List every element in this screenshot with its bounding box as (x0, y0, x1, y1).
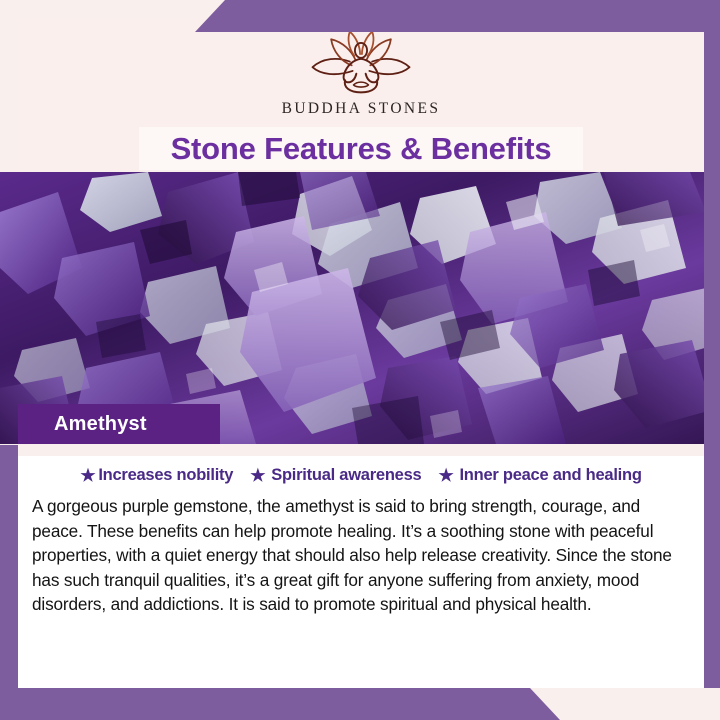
lotus-meditation-icon (300, 28, 422, 97)
title-band: Stone Features & Benefits (139, 127, 583, 170)
feature-label: Spiritual awareness (271, 466, 421, 485)
brand-name: BUDDHA STONES (282, 100, 441, 118)
feature-label: Increases nobility (98, 466, 233, 485)
decor-top-purple-bar (195, 0, 720, 32)
decor-bottom-purple-bar (0, 688, 720, 720)
decor-left-purple-bar (0, 445, 18, 720)
infographic-page: BUDDHA STONES Stone Features & Benefits (0, 0, 720, 720)
star-icon: ★ (80, 467, 95, 484)
feature-item-nobility: ★ Increases nobility (80, 466, 233, 485)
content-card: ★ Increases nobility ★ Spiritual awarene… (18, 444, 704, 688)
stone-description: A gorgeous purple gemstone, the amethyst… (32, 494, 690, 617)
page-title: Stone Features & Benefits (171, 131, 552, 167)
star-icon: ★ (438, 467, 453, 484)
header: BUDDHA STONES Stone Features & Benefits (18, 18, 704, 170)
feature-label: Inner peace and healing (459, 466, 641, 485)
feature-item-inner-peace: ★ Inner peace and healing (438, 466, 641, 485)
feature-list: ★ Increases nobility ★ Spiritual awarene… (18, 456, 704, 485)
decor-right-purple-bar (704, 0, 720, 688)
star-icon: ★ (250, 467, 265, 484)
feature-item-spiritual-awareness: ★ Spiritual awareness (250, 466, 421, 485)
stone-name-text: Amethyst (54, 413, 147, 436)
stone-name-label: Amethyst (18, 404, 220, 444)
card-top-strip (18, 444, 704, 456)
hero-image-container: Amethyst (0, 172, 720, 444)
